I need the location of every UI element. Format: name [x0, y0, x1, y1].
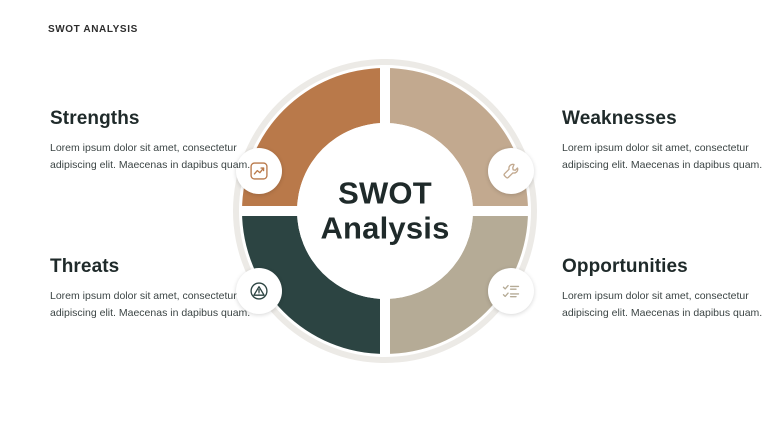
- swot-block-opportunities: Opportunities Lorem ipsum dolor sit amet…: [562, 256, 768, 323]
- swot-heading-weaknesses: Weaknesses: [562, 108, 768, 130]
- slide-canvas: SWOT ANALYSIS SWOT Analysis: [0, 0, 768, 432]
- swot-heading-opportunities: Opportunities: [562, 256, 768, 278]
- icon-badge-weaknesses[interactable]: [488, 148, 534, 194]
- wrench-icon: [501, 161, 521, 181]
- donut-gap-left: [240, 206, 300, 216]
- swot-body-threats: Lorem ipsum dolor sit amet, consectetur …: [50, 288, 260, 323]
- donut-hole: [297, 123, 473, 299]
- icon-badge-opportunities[interactable]: [488, 268, 534, 314]
- swot-donut-chart: SWOT Analysis: [230, 56, 540, 366]
- swot-block-threats: Threats Lorem ipsum dolor sit amet, cons…: [50, 256, 260, 323]
- swot-body-strengths: Lorem ipsum dolor sit amet, consectetur …: [50, 140, 260, 175]
- swot-heading-strengths: Strengths: [50, 108, 260, 130]
- donut-gap-bottom: [380, 296, 390, 356]
- donut-gap-right: [470, 206, 530, 216]
- swot-block-strengths: Strengths Lorem ipsum dolor sit amet, co…: [50, 108, 260, 175]
- swot-heading-threats: Threats: [50, 256, 260, 278]
- page-title: SWOT ANALYSIS: [48, 24, 138, 35]
- donut-gap-top: [380, 66, 390, 126]
- checklist-icon: [501, 281, 521, 301]
- swot-body-weaknesses: Lorem ipsum dolor sit amet, consectetur …: [562, 140, 768, 175]
- swot-body-opportunities: Lorem ipsum dolor sit amet, consectetur …: [562, 288, 768, 323]
- swot-block-weaknesses: Weaknesses Lorem ipsum dolor sit amet, c…: [562, 108, 768, 175]
